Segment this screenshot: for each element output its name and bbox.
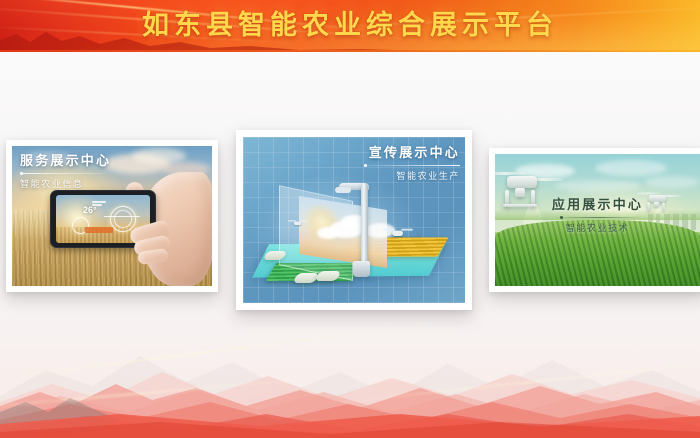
card-application-caption: 应用展示中心 智能农业技术 xyxy=(489,194,700,234)
card-promotion-caption: 宣传展示中心 智能农业生产 xyxy=(364,142,460,182)
cloud-icon xyxy=(555,180,641,192)
street-light-pole xyxy=(361,183,368,265)
cloud-icon xyxy=(595,160,667,176)
street-light-head xyxy=(335,187,351,193)
page-header: 如东县智能农业综合展示平台 xyxy=(0,0,700,52)
card-application-title: 应用展示中心 xyxy=(489,194,700,213)
card-promotion-display-center[interactable]: 宣传展示中心 智能农业生产 xyxy=(236,130,472,310)
page-title: 如东县智能农业综合展示平台 xyxy=(0,5,700,47)
card-service-caption: 服务展示中心 智能农业信息 xyxy=(20,150,111,190)
card-service-display-center[interactable]: 26° 服务展示中心 智能农业信息 xyxy=(6,140,218,292)
hud-target-ring-inner-icon xyxy=(114,210,132,228)
cloud-icon xyxy=(645,176,699,188)
hud-bar-icon xyxy=(92,204,102,206)
card-service-title: 服务展示中心 xyxy=(20,150,111,169)
card-promotion-subtitle: 智能农业生产 xyxy=(364,169,460,182)
card-promotion-title: 宣传展示中心 xyxy=(364,142,460,161)
card-application-subtitle: 智能农业技术 xyxy=(489,221,700,234)
card-application-display-center[interactable]: 应用展示中心 智能农业技术 xyxy=(489,148,700,292)
hud-crosshair-icon xyxy=(104,216,140,217)
water-bucket xyxy=(353,261,370,277)
hud-label-chip xyxy=(85,227,113,233)
card-application-divider xyxy=(556,217,640,218)
header-bottom-rule xyxy=(0,50,700,52)
app-stage: 如东县智能农业综合展示平台 26° xyxy=(0,0,700,438)
card-promotion-divider xyxy=(364,165,460,166)
hud-bar-icon xyxy=(92,201,106,203)
card-service-divider xyxy=(20,173,106,174)
card-service-subtitle: 智能农业信息 xyxy=(20,177,111,190)
hud-temperature-readout: 26° xyxy=(83,205,97,215)
